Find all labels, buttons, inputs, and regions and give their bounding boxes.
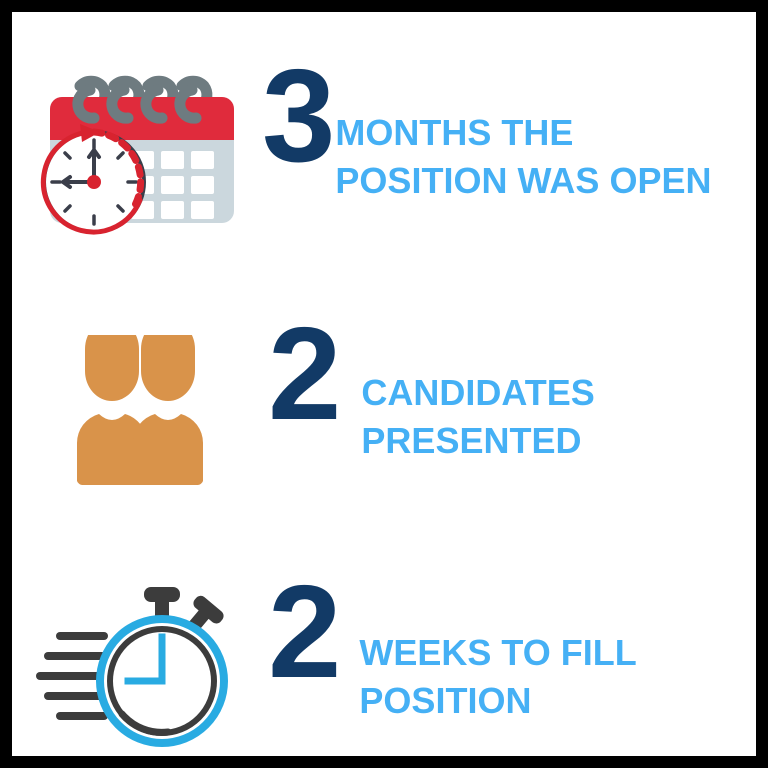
calendar-clock-icon bbox=[32, 52, 242, 252]
stat-label-weeks-to-fill: WEEKS TO FILL POSITION bbox=[339, 581, 756, 724]
stat-label-months-open: MONTHS THE POSITION WAS OPEN bbox=[333, 65, 756, 204]
stat-number-months-open: 3 bbox=[262, 59, 333, 173]
infographic-canvas: 3 MONTHS THE POSITION WAS OPEN bbox=[12, 12, 756, 756]
stat-number-weeks-to-fill: 2 bbox=[268, 575, 339, 689]
stat-label-line2: POSITION WAS OPEN bbox=[335, 157, 756, 205]
stat-label-line1: CANDIDATES bbox=[361, 372, 594, 413]
stat-label-candidates-presented: CANDIDATES PRESENTED bbox=[339, 323, 756, 464]
stat-number-candidates-presented: 2 bbox=[268, 317, 339, 431]
icon-cell-stopwatch bbox=[12, 563, 262, 756]
text-cell-weeks-to-fill: 2 WEEKS TO FILL POSITION bbox=[262, 563, 756, 756]
stat-label-line1: WEEKS TO FILL bbox=[359, 632, 636, 673]
stopwatch-icon bbox=[32, 581, 242, 756]
icon-cell-calendar bbox=[12, 47, 262, 257]
stat-label-line2: POSITION bbox=[359, 677, 756, 725]
stat-row-months-open: 3 MONTHS THE POSITION WAS OPEN bbox=[12, 42, 756, 262]
infographic-frame: 3 MONTHS THE POSITION WAS OPEN bbox=[0, 0, 768, 768]
text-cell-candidates-presented: 2 CANDIDATES PRESENTED bbox=[262, 305, 756, 515]
stat-row-candidates-presented: 2 CANDIDATES PRESENTED bbox=[12, 300, 756, 520]
icon-cell-people bbox=[12, 305, 262, 515]
stat-label-line2: PRESENTED bbox=[361, 417, 756, 465]
stat-row-weeks-to-fill: 2 WEEKS TO FILL POSITION bbox=[12, 558, 756, 756]
two-people-icon bbox=[37, 335, 237, 485]
text-cell-months-open: 3 MONTHS THE POSITION WAS OPEN bbox=[262, 47, 756, 257]
stat-label-line1: MONTHS THE bbox=[335, 112, 573, 153]
